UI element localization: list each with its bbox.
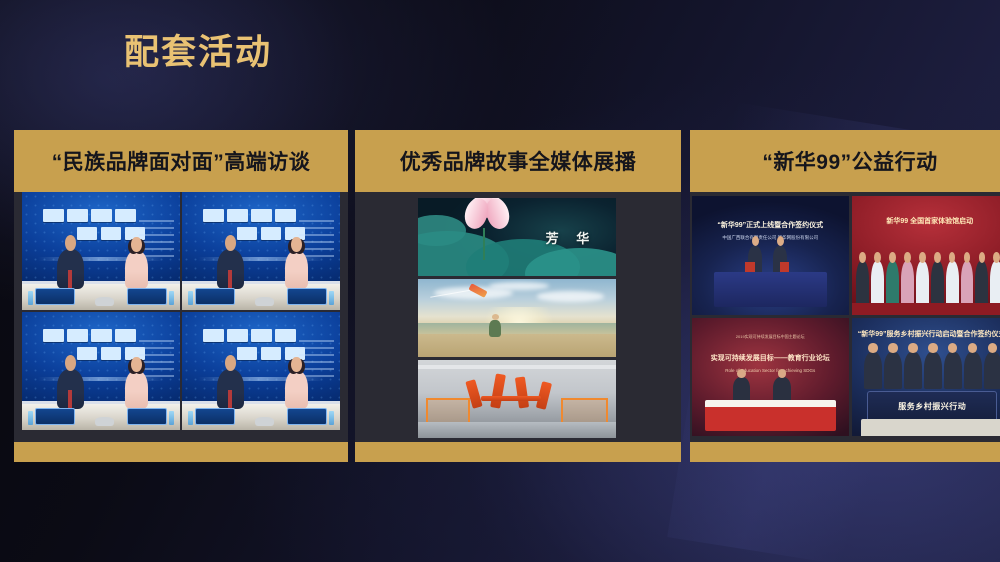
panel-interview: “民族品牌面对面”高端访谈 <box>14 130 348 462</box>
interview-host <box>285 370 309 409</box>
necktie <box>68 270 72 289</box>
attendee <box>886 261 899 305</box>
panel-xinhua99-header-label: “新华99”公益行动 <box>762 146 937 176</box>
laptop-right <box>127 408 167 425</box>
event-photo-experience-store[interactable]: 新华99 全国首家体验馆启动 <box>852 196 1000 315</box>
panel-interview-body <box>14 192 348 442</box>
interview-photo-3[interactable] <box>22 312 180 430</box>
panel-brand-story-footer <box>355 442 681 462</box>
lotus-flower-icon <box>458 204 517 231</box>
event-photo-education-forum[interactable]: 2019实现可持续发展目标中国主题论坛 实现可持续发展目标——教育行业论坛 Ro… <box>692 318 849 437</box>
interview-host <box>125 250 149 289</box>
event-photo-rural-revitalization[interactable]: “新华99”服务乡村振兴行动启动暨合作签约仪式 服务乡村振兴行动 <box>852 318 1000 437</box>
attendee <box>946 261 959 305</box>
desk-edge <box>182 281 340 284</box>
event-caption: “新华99”正式上线暨合作签约仪式 <box>698 220 842 230</box>
interview-photo-1[interactable] <box>22 192 180 310</box>
panel-xinhua99-body: “新华99”正式上线暨合作签约仪式 中国广西联合有限责任公司 新华网股份有限公司… <box>690 192 1000 442</box>
forum-signatory <box>733 377 750 403</box>
necktie <box>68 390 72 409</box>
beach-kite-still[interactable] <box>418 279 616 357</box>
attendee <box>964 352 982 389</box>
interview-photo-4[interactable] <box>182 312 340 430</box>
attendee <box>884 352 902 389</box>
water-bottle-right <box>169 291 174 305</box>
panel-interview-header-label: “民族品牌面对面”高端访谈 <box>52 146 311 176</box>
attendee <box>901 261 914 305</box>
car-model-prop <box>255 297 274 306</box>
water-bottle-left <box>28 291 33 305</box>
water-bottle-right <box>169 411 174 425</box>
ceiling-beam <box>418 365 616 369</box>
robot-arm <box>481 396 540 401</box>
necktie <box>228 390 232 409</box>
event-subcaption: Role of Education Sector for Achieving S… <box>701 368 839 373</box>
laptop-left <box>195 408 235 425</box>
laptop-right <box>127 288 167 305</box>
page-title: 配套活动 <box>124 24 272 75</box>
slide-root: 配套活动 “民族品牌面对面”高端访谈 <box>0 0 1000 562</box>
car-model-prop <box>255 417 274 426</box>
attendee <box>990 261 1000 305</box>
attendee <box>904 352 922 389</box>
sand <box>418 334 616 357</box>
lotus-still-overlay-text: 芳 华 <box>546 228 597 247</box>
robot-arm <box>490 373 506 409</box>
panel-xinhua99-header: “新华99”公益行动 <box>690 130 1000 192</box>
event-caption: “新华99”服务乡村振兴行动启动暨合作签约仪式 <box>858 329 1000 339</box>
factory-robots-still[interactable] <box>418 360 616 438</box>
interview-host <box>125 370 149 409</box>
attendee <box>961 261 974 305</box>
laptop-right <box>287 288 327 305</box>
panel-xinhua99-footer <box>690 442 1000 462</box>
lotus-still[interactable]: 芳 华 <box>418 198 616 276</box>
panel-interview-footer <box>14 442 348 462</box>
cloud <box>489 282 548 290</box>
panel-brand-story-header-label: 优秀品牌故事全媒体展播 <box>400 146 637 176</box>
factory-floor <box>418 422 616 438</box>
panel-brand-story-header: 优秀品牌故事全媒体展播 <box>355 130 681 192</box>
stage-table <box>714 272 827 308</box>
water-bottle-left <box>188 291 193 305</box>
attendee <box>944 352 962 389</box>
attendee <box>864 352 882 389</box>
attendee <box>916 261 929 305</box>
attendee <box>984 352 1000 389</box>
necktie <box>228 270 232 289</box>
laptop-right <box>287 408 327 425</box>
water-bottle-right <box>329 291 334 305</box>
running-child <box>489 320 501 337</box>
desk-edge <box>22 281 180 284</box>
interview-photo-2[interactable] <box>182 192 340 310</box>
event-caption: 实现可持续发展目标——教育行业论坛 <box>698 353 842 363</box>
group-photo-row <box>864 348 1000 388</box>
panel-xinhua99: “新华99”公益行动 “新华99”正式上线暨合作签约仪式 中国广西联合有限责任公… <box>690 130 1000 462</box>
event-photo-signing-ceremony[interactable]: “新华99”正式上线暨合作签约仪式 中国广西联合有限责任公司 新华网股份有限公司 <box>692 196 849 315</box>
water-bottle-left <box>188 411 193 425</box>
cloud <box>537 291 604 301</box>
red-carpet <box>852 303 1000 315</box>
panel-brand-story: 优秀品牌故事全媒体展播 芳 华 <box>355 130 681 462</box>
xinhua99-photo-grid: “新华99”正式上线暨合作签约仪式 中国广西联合有限责任公司 新华网股份有限公司… <box>692 196 1000 436</box>
interview-photo-grid <box>22 192 340 430</box>
group-photo-row <box>856 255 1000 305</box>
event-caption: 新华99 全国首家体验馆启动 <box>858 216 1000 226</box>
car-model-prop <box>95 417 114 426</box>
water-bottle-left <box>28 411 33 425</box>
panel-brand-story-body: 芳 华 <box>355 192 681 442</box>
laptop-left <box>35 288 75 305</box>
red-draped-table <box>705 400 836 431</box>
attendee <box>856 261 869 305</box>
stage-podium <box>861 419 1000 436</box>
stage-banner-text: 服务乡村振兴行动 <box>898 401 966 412</box>
panel-interview-header: “民族品牌面对面”高端访谈 <box>14 130 348 192</box>
brand-story-still-stack: 芳 华 <box>418 198 616 438</box>
interview-host <box>285 250 309 289</box>
lotus-stem <box>483 228 485 261</box>
attendee <box>924 352 942 389</box>
attendee <box>931 261 944 305</box>
attendee <box>975 261 988 305</box>
forum-signatory <box>773 377 790 403</box>
water-bottle-right <box>329 411 334 425</box>
laptop-left <box>195 288 235 305</box>
robot-arm <box>515 377 529 409</box>
attendee <box>871 261 884 305</box>
event-subcaption: 中国广西联合有限责任公司 新华网股份有限公司 <box>701 235 839 241</box>
car-model-prop <box>95 297 114 306</box>
desk-edge <box>22 401 180 404</box>
event-topline: 2019实现可持续发展目标中国主题论坛 <box>714 334 827 340</box>
stage-banner: 服务乡村振兴行动 <box>867 391 997 421</box>
desk-edge <box>182 401 340 404</box>
laptop-left <box>35 408 75 425</box>
